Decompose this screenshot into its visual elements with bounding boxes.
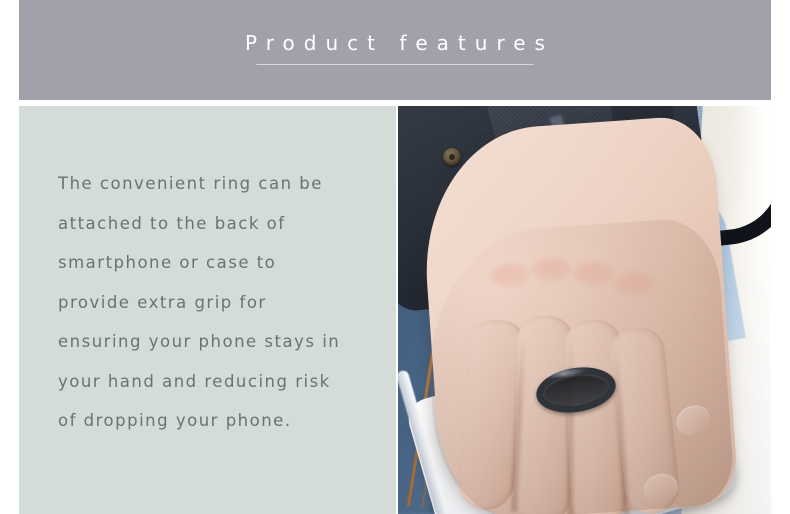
description-text: The convenient ring can be attached to t… xyxy=(58,164,388,441)
product-features-banner: Product features The convenient ring can… xyxy=(0,0,790,514)
content-row: The convenient ring can be attached to t… xyxy=(19,106,771,514)
header-band: Product features xyxy=(19,0,771,100)
description-line: attached to the back of xyxy=(58,204,388,244)
product-photo xyxy=(398,106,771,514)
jacket-button xyxy=(443,148,461,166)
description-line: smartphone or case to xyxy=(58,243,388,283)
description-line: provide extra grip for xyxy=(58,283,388,323)
description-panel: The convenient ring can be attached to t… xyxy=(19,106,396,514)
page-title: Product features xyxy=(19,32,771,54)
title-underline-rule xyxy=(257,64,534,65)
description-line: The convenient ring can be xyxy=(58,164,388,204)
description-line: of dropping your phone. xyxy=(58,401,388,441)
description-line: your hand and reducing risk xyxy=(58,362,388,402)
description-line: ensuring your phone stays in xyxy=(58,322,388,362)
